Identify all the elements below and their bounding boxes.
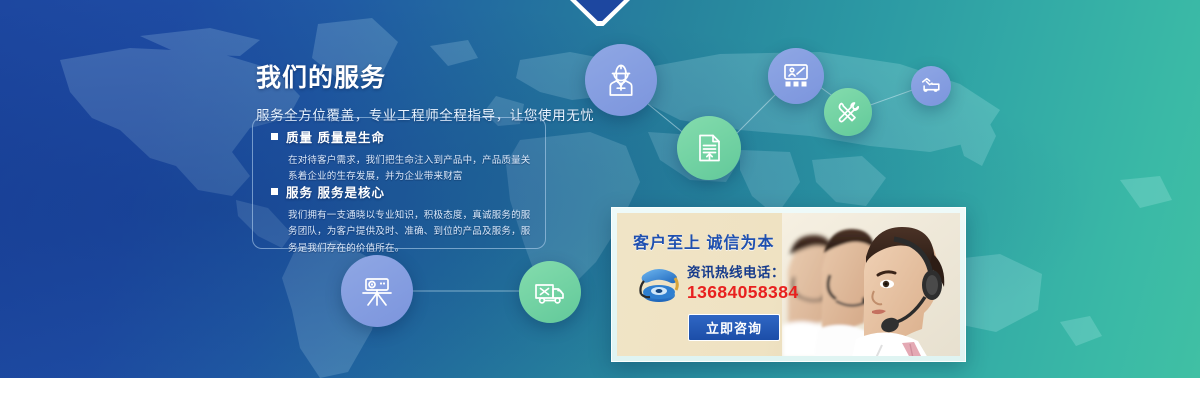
survey-tripod-icon [357,271,397,311]
service-network [0,0,1200,378]
service-item-service: 服务 服务是核心 我们拥有一支通晓以专业知识，积极态度，真诚服务的服务团队，为客… [271,182,531,257]
training-presentation-icon [780,60,812,92]
delivery-truck-icon [532,274,568,310]
telephone-icon [633,261,681,305]
service-item-service-body: 我们拥有一支通晓以专业知识，积极态度，真诚服务的服务团队，为客户提供及时、准确、… [288,208,531,257]
node-delivery[interactable] [911,66,951,106]
chevron-down-icon [570,0,630,26]
contact-card: 客户至上 诚信为本 [611,207,966,362]
service-item-service-heading-text: 服务 服务是核心 [286,182,385,201]
hammer-wrench-icon [834,98,862,126]
call-center-agents-photo [782,213,960,356]
contact-text-block: 客户至上 诚信为本 [633,229,798,341]
hotline-number: 13684058384 [687,282,798,303]
node-engineer[interactable] [585,44,657,116]
contact-card-inner: 客户至上 诚信为本 [617,213,960,356]
headings-group: 我们的服务 服务全方位覆盖，专业工程师全程指导，让您使用无忧 [256,58,594,124]
node-truck[interactable] [519,261,581,323]
page-title: 我们的服务 [256,58,594,94]
service-item-quality-body: 在对待客户需求，我们把生命注入到产品中，产品质量关系着企业的生存发展，并为企业带… [288,153,531,186]
service-panel: 质量 质量是生命 在对待客户需求，我们把生命注入到产品中，产品质量关系着企业的生… [252,117,546,249]
node-document[interactable] [677,116,741,180]
service-item-quality-heading: 质量 质量是生命 [271,127,531,146]
consult-button[interactable]: 立即咨询 [688,314,780,341]
service-item-quality-heading-text: 质量 质量是生命 [286,127,385,146]
hotline-label: 资讯热线电话： [687,261,798,281]
service-item-quality: 质量 质量是生命 在对待客户需求，我们把生命注入到产品中，产品质量关系着企业的生… [271,127,531,186]
hotline-row: 资讯热线电话： 13684058384 [633,261,798,305]
node-tools[interactable] [824,88,872,136]
node-training[interactable] [768,48,824,104]
square-bullet-icon [271,188,278,195]
node-survey[interactable] [341,255,413,327]
handshake-delivery-icon [920,75,942,97]
contact-slogan: 客户至上 诚信为本 [633,229,798,253]
engineer-helmet-icon [601,60,641,100]
square-bullet-icon [271,133,278,140]
service-banner: 我们的服务 服务全方位覆盖，专业工程师全程指导，让您使用无忧 质量 质量是生命 … [0,0,1200,378]
service-item-service-heading: 服务 服务是核心 [271,182,531,201]
document-upload-icon [691,130,727,166]
